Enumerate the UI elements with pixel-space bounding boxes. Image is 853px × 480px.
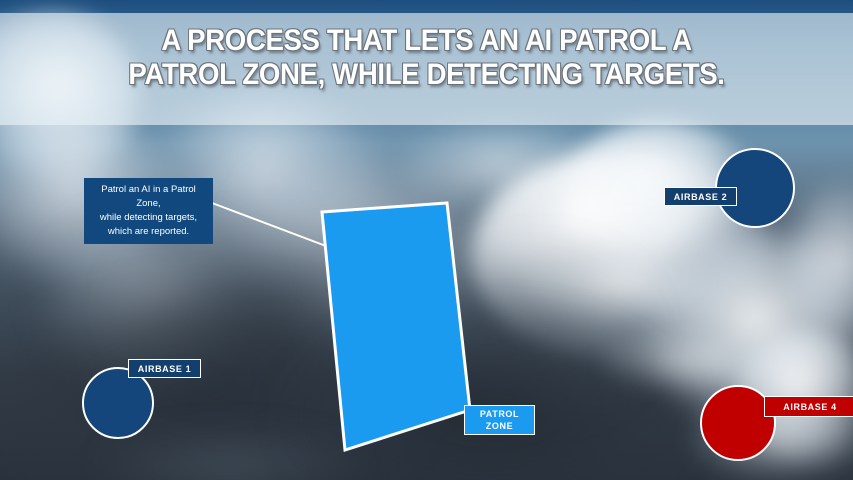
airbase-1-label[interactable]: AIRBASE 1 (128, 359, 201, 378)
callout-box: Patrol an AI in a Patrol Zone, while det… (84, 178, 213, 244)
airbase-2-label[interactable]: AIRBASE 2 (664, 187, 737, 206)
airbase-4-label[interactable]: AIRBASE 4 (764, 396, 853, 417)
slide-canvas: A PROCESS THAT LETS AN AI PATROL A PATRO… (0, 0, 853, 480)
patrol-zone-label[interactable]: PATROL ZONE (464, 405, 535, 435)
callout-leader-line (212, 203, 326, 246)
patrol-zone-polygon[interactable] (322, 203, 470, 450)
